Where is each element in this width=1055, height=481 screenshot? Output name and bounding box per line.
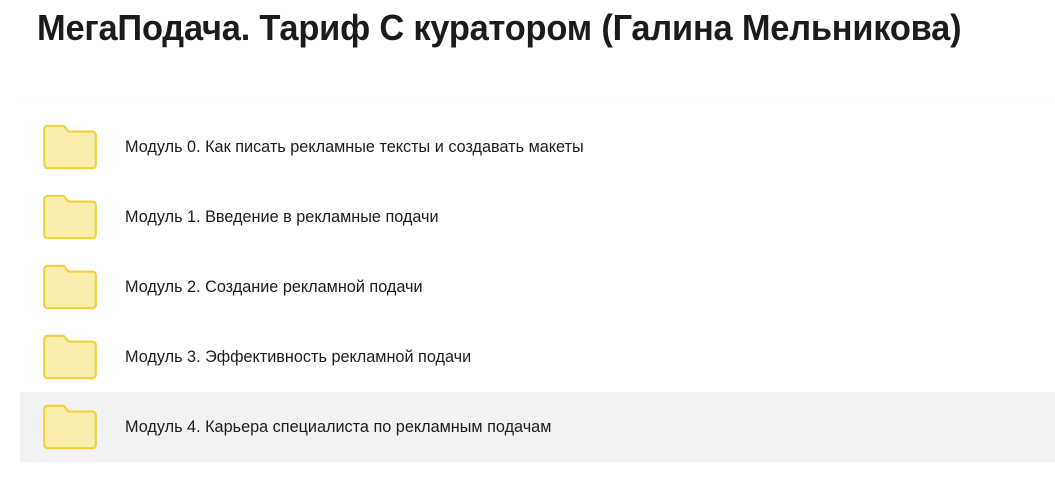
folder-list-item[interactable]: Модуль 0. Как писать рекламные тексты и … (0, 112, 1055, 182)
folder-item-label: Модуль 2. Создание рекламной подачи (125, 276, 423, 298)
module-folder-list: Модуль 0. Как писать рекламные тексты и … (0, 112, 1055, 462)
page-root: МегаПодача. Тариф С куратором (Галина Ме… (0, 0, 1055, 481)
folder-list-item[interactable]: Модуль 3. Эффективность рекламной подачи (0, 322, 1055, 392)
folder-icon (42, 264, 98, 310)
folder-item-label: Модуль 4. Карьера специалиста по рекламн… (125, 416, 551, 438)
page-title: МегаПодача. Тариф С куратором (Галина Ме… (37, 5, 1002, 51)
folder-item-label: Модуль 3. Эффективность рекламной подачи (125, 346, 471, 368)
folder-icon (42, 194, 98, 240)
folder-list-item[interactable]: Модуль 1. Введение в рекламные подачи (0, 182, 1055, 252)
folder-icon (42, 124, 98, 170)
folder-item-label: Модуль 0. Как писать рекламные тексты и … (125, 136, 584, 158)
folder-icon (42, 334, 98, 380)
folder-icon (42, 404, 98, 450)
folder-item-label: Модуль 1. Введение в рекламные подачи (125, 206, 439, 228)
folder-list-item[interactable]: Модуль 2. Создание рекламной подачи (0, 252, 1055, 322)
list-top-separator (20, 99, 1055, 100)
folder-list-item[interactable]: Модуль 4. Карьера специалиста по рекламн… (0, 392, 1055, 462)
